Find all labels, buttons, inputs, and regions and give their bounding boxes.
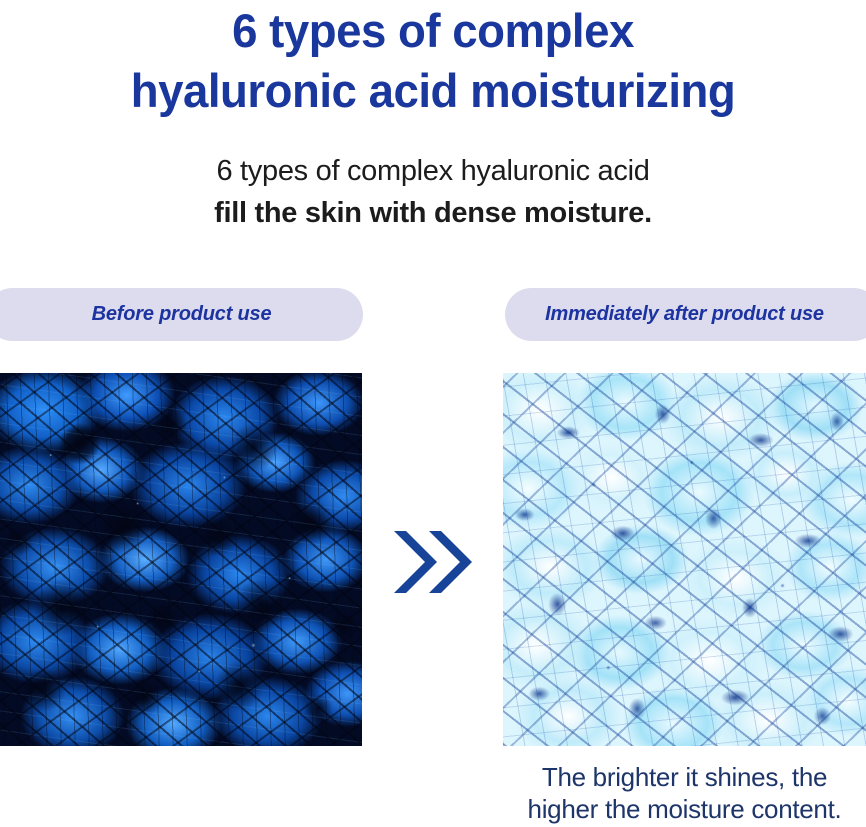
after-label-text: Immediately after product use	[545, 303, 824, 326]
subtitle-line-1: 6 types of complex hyaluronic acid	[0, 150, 866, 192]
moisture-caption: The brighter it shines, the higher the m…	[503, 761, 866, 825]
headline-line-2: hyaluronic acid moisturizing	[13, 61, 853, 121]
after-label-pill: Immediately after product use	[505, 288, 866, 341]
after-node-layer	[503, 373, 866, 746]
page-title: 6 types of complex hyaluronic acid moist…	[13, 0, 853, 121]
after-microscopy-image	[503, 373, 866, 746]
after-image-layers	[503, 373, 866, 746]
subtitle-line-2: fill the skin with dense moisture.	[0, 192, 866, 234]
before-label-text: Before product use	[92, 303, 272, 326]
caption-line-2: higher the moisture content.	[503, 793, 866, 825]
before-label-pill: Before product use	[0, 288, 363, 341]
headline-line-1: 6 types of complex	[13, 1, 853, 61]
double-chevron-right-icon	[392, 527, 474, 597]
before-image-layers	[0, 373, 362, 746]
page-subtitle: 6 types of complex hyaluronic acid fill …	[0, 150, 866, 234]
before-speckle-layer	[0, 373, 362, 746]
caption-line-1: The brighter it shines, the	[503, 761, 866, 793]
before-microscopy-image	[0, 373, 362, 746]
